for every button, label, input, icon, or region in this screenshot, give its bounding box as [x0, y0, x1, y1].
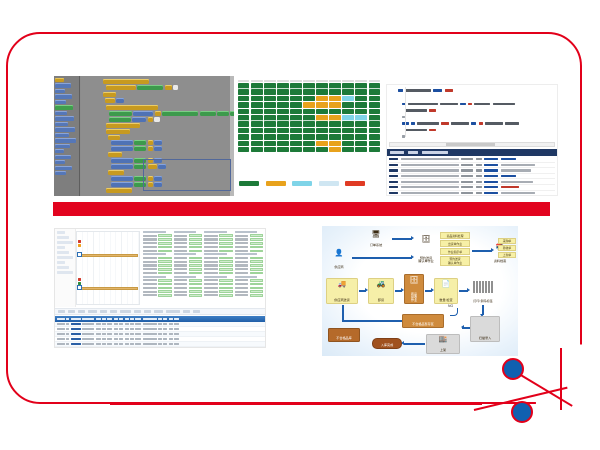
table-column-header[interactable]	[135, 318, 141, 320]
form-field-row[interactable]	[235, 279, 264, 282]
form-field-value[interactable]	[250, 294, 263, 297]
code-block[interactable]	[106, 105, 158, 110]
grid-cell[interactable]	[316, 89, 327, 95]
form-field-value[interactable]	[158, 257, 171, 260]
code-block[interactable]	[116, 98, 124, 103]
code-block[interactable]	[134, 140, 146, 145]
grid-cell[interactable]	[238, 141, 249, 147]
code-editor[interactable]	[387, 85, 557, 139]
sidebar-chip[interactable]	[57, 261, 65, 264]
code-block[interactable]	[108, 152, 122, 157]
palette-block[interactable]	[55, 94, 72, 98]
form-field-value[interactable]	[189, 242, 202, 245]
sidebar-chip[interactable]	[57, 241, 73, 244]
grid-cell[interactable]	[316, 121, 327, 127]
blocks-canvas[interactable]	[81, 76, 234, 196]
flow-node-note-1[interactable]: 商品资料处理	[440, 232, 470, 239]
grid-cell[interactable]	[264, 115, 275, 121]
blocks-editor-screenshot[interactable]	[54, 76, 234, 196]
form-field-row[interactable]	[174, 234, 203, 237]
form-field-value[interactable]	[219, 234, 232, 237]
code-block[interactable]	[165, 85, 172, 90]
grid-cell[interactable]	[329, 96, 340, 102]
palette-block[interactable]	[55, 111, 67, 115]
grid-cell[interactable]	[238, 89, 249, 95]
grid-cell[interactable]	[277, 147, 288, 153]
grid-cell[interactable]	[316, 83, 327, 89]
grid-cell[interactable]	[316, 115, 327, 121]
code-and-log-screenshot[interactable]	[386, 84, 558, 196]
plan-sidebar[interactable]	[55, 229, 76, 307]
form-field-value[interactable]	[250, 268, 263, 271]
sidebar-chip[interactable]	[57, 266, 69, 269]
block-statement-row[interactable]	[105, 98, 124, 103]
form-field-row[interactable]	[235, 242, 264, 245]
table-column-header[interactable]	[143, 318, 157, 320]
code-block[interactable]	[103, 79, 149, 84]
form-field-row[interactable]	[235, 246, 264, 249]
palette-block[interactable]	[55, 166, 72, 170]
toolbar-button[interactable]	[144, 310, 151, 313]
grid-column[interactable]	[264, 80, 275, 152]
grid-cell[interactable]	[251, 96, 262, 102]
code-block[interactable]	[148, 117, 153, 122]
form-field-row[interactable]	[235, 272, 264, 275]
sidebar-chip[interactable]	[57, 236, 69, 239]
palette-block[interactable]	[55, 89, 65, 93]
form-field-row[interactable]	[143, 294, 172, 297]
table-row[interactable]	[55, 347, 265, 348]
toolbar-button[interactable]	[100, 310, 107, 313]
table-column-header[interactable]	[96, 318, 101, 320]
grid-cell[interactable]	[342, 141, 353, 147]
grid-cell[interactable]	[342, 121, 353, 127]
sidebar-chip[interactable]	[57, 256, 73, 259]
data-table[interactable]	[55, 316, 265, 347]
grid-cell[interactable]	[277, 115, 288, 121]
form-field-row[interactable]	[174, 272, 203, 275]
grid-cell[interactable]	[316, 134, 327, 140]
grid-cell[interactable]	[303, 96, 314, 102]
code-block[interactable]	[162, 111, 198, 116]
log-column-header[interactable]	[422, 151, 448, 153]
form-field-row[interactable]	[235, 294, 264, 297]
form-field-value[interactable]	[219, 246, 232, 249]
flow-node-note-5[interactable]: 采购单	[498, 238, 516, 244]
code-block[interactable]	[154, 146, 162, 151]
grid-cell[interactable]	[303, 128, 314, 134]
palette-block[interactable]	[55, 155, 71, 159]
grid-cell[interactable]	[355, 89, 366, 95]
flow-node-delivery-truck[interactable]: 🚚供应商送货	[326, 278, 358, 304]
form-field-value[interactable]	[219, 287, 232, 290]
grid-cell[interactable]	[290, 128, 301, 134]
grid-cell[interactable]	[290, 115, 301, 121]
form-field-row[interactable]	[204, 283, 233, 286]
flow-node-note-3[interactable]: 作业指示单	[440, 248, 470, 255]
form-field-row[interactable]	[174, 246, 203, 249]
sidebar-chip[interactable]	[57, 271, 73, 274]
block-statement-row[interactable]	[111, 146, 162, 151]
grid-cell[interactable]	[264, 141, 275, 147]
form-field-value[interactable]	[219, 260, 232, 263]
form-field-value[interactable]	[250, 238, 263, 241]
block-statement-row[interactable]	[103, 92, 116, 97]
grid-cell[interactable]	[251, 134, 262, 140]
grid-cell[interactable]	[342, 134, 353, 140]
form-field-value[interactable]	[189, 238, 202, 241]
grid-cell[interactable]	[264, 121, 275, 127]
logistics-flow-diagram[interactable]: NG 👤供应商🖥订单系统🗄预约送货 确认单作业商品资料处理出货单作业作业指示单预…	[322, 226, 518, 356]
grid-cell[interactable]	[251, 141, 262, 147]
sidebar-chip[interactable]	[57, 246, 65, 249]
grid-column[interactable]	[290, 80, 301, 152]
grid-cell[interactable]	[369, 102, 380, 108]
form-field-value[interactable]	[250, 287, 263, 290]
form-field-value[interactable]	[250, 246, 263, 249]
code-block[interactable]	[106, 85, 136, 90]
grid-cell[interactable]	[369, 109, 380, 115]
grid-cell[interactable]	[369, 128, 380, 134]
form-field-row[interactable]	[174, 260, 203, 263]
grid-cell[interactable]	[264, 102, 275, 108]
form-field-row[interactable]	[143, 287, 172, 290]
grid-cell[interactable]	[251, 115, 262, 121]
flow-node-supplier[interactable]: 👤供应商	[326, 248, 352, 270]
form-field-row[interactable]	[235, 234, 264, 237]
code-line[interactable]	[391, 134, 553, 139]
code-block[interactable]	[106, 188, 132, 193]
palette-block[interactable]	[55, 78, 64, 82]
log-row[interactable]	[389, 191, 555, 196]
grid-cell[interactable]	[355, 141, 366, 147]
form-field-row[interactable]	[143, 238, 172, 241]
flow-node-scan-station[interactable]: 扫描录入	[470, 316, 500, 342]
form-field-value[interactable]	[189, 290, 202, 293]
palette-block[interactable]	[55, 160, 65, 164]
grid-cell[interactable]	[342, 102, 353, 108]
gantt-bar[interactable]	[80, 287, 138, 290]
grid-cell[interactable]	[355, 109, 366, 115]
code-block[interactable]	[173, 85, 178, 90]
block-statement-row[interactable]	[108, 170, 124, 175]
flow-node-unloading[interactable]: 🚜卸货	[368, 278, 394, 304]
grid-cell[interactable]	[251, 83, 262, 89]
grid-cell[interactable]	[238, 134, 249, 140]
block-statement-row[interactable]	[106, 188, 132, 193]
grid-cell[interactable]	[369, 115, 380, 121]
status-grid[interactable]	[238, 80, 380, 152]
form-field-row[interactable]	[143, 290, 172, 293]
grid-cell[interactable]	[238, 109, 249, 115]
table-column-header[interactable]	[174, 318, 179, 320]
grid-cell[interactable]	[264, 109, 275, 115]
grid-cell[interactable]	[329, 134, 340, 140]
block-statement-row[interactable]	[106, 105, 158, 110]
form-field-row[interactable]	[235, 283, 264, 286]
form-field-row[interactable]	[174, 283, 203, 286]
form-field-row[interactable]	[204, 294, 233, 297]
form-field-value[interactable]	[250, 290, 263, 293]
grid-cell[interactable]	[277, 102, 288, 108]
form-field-value[interactable]	[189, 268, 202, 271]
form-field-value[interactable]	[219, 279, 232, 282]
code-block[interactable]	[109, 111, 132, 116]
palette-block[interactable]	[55, 116, 74, 120]
form-field-value[interactable]	[158, 264, 171, 267]
form-field-row[interactable]	[204, 260, 233, 263]
form-field-value[interactable]	[189, 264, 202, 267]
form-field-row[interactable]	[174, 290, 203, 293]
form-field-row[interactable]	[235, 257, 264, 260]
form-field-row[interactable]	[143, 246, 172, 249]
grid-cell[interactable]	[303, 102, 314, 108]
form-field-value[interactable]	[219, 290, 232, 293]
grid-cell[interactable]	[238, 128, 249, 134]
sidebar-chip[interactable]	[57, 231, 65, 234]
form-field-value[interactable]	[158, 260, 171, 263]
table-column-header[interactable]	[107, 318, 112, 320]
grid-cell[interactable]	[316, 147, 327, 153]
block-statement-row[interactable]	[106, 85, 178, 90]
form-field-row[interactable]	[235, 250, 264, 253]
block-statement-row[interactable]	[106, 123, 140, 128]
form-field-value[interactable]	[250, 264, 263, 267]
gantt-milestone-marker[interactable]	[77, 252, 82, 257]
grid-cell[interactable]	[264, 83, 275, 89]
table-column-header[interactable]	[66, 318, 69, 320]
grid-cell[interactable]	[355, 96, 366, 102]
form-field-value[interactable]	[219, 238, 232, 241]
log-column-header[interactable]	[408, 151, 418, 153]
form-field-value[interactable]	[158, 250, 171, 253]
form-field-row[interactable]	[204, 234, 233, 237]
grid-cell[interactable]	[290, 83, 301, 89]
grid-cell[interactable]	[277, 141, 288, 147]
flow-node-reject-area[interactable]: 不合格品暂存区	[402, 314, 444, 328]
form-field-value[interactable]	[158, 283, 171, 286]
form-field-row[interactable]	[235, 290, 264, 293]
form-field-row[interactable]	[204, 268, 233, 271]
form-field-value[interactable]	[219, 242, 232, 245]
grid-column[interactable]	[369, 80, 380, 152]
block-statement-row[interactable]	[108, 152, 122, 157]
form-field-row[interactable]	[143, 283, 172, 286]
form-field-value[interactable]	[250, 242, 263, 245]
code-block[interactable]	[105, 98, 115, 103]
grid-cell[interactable]	[329, 128, 340, 134]
grid-cell[interactable]	[316, 141, 327, 147]
grid-cell[interactable]	[290, 134, 301, 140]
grid-cell[interactable]	[316, 96, 327, 102]
form-field-value[interactable]	[158, 279, 171, 282]
gantt-milestone-marker[interactable]	[77, 285, 82, 290]
form-field-row[interactable]	[235, 238, 264, 241]
grid-cell[interactable]	[264, 96, 275, 102]
form-field-row[interactable]	[204, 264, 233, 267]
form-field-row[interactable]	[204, 257, 233, 260]
code-line[interactable]	[391, 95, 553, 100]
grid-cell[interactable]	[369, 141, 380, 147]
grid-cell[interactable]	[329, 147, 340, 153]
block-statement-row[interactable]	[103, 79, 149, 84]
code-block[interactable]	[148, 146, 153, 151]
code-block[interactable]	[111, 176, 133, 181]
form-field-value[interactable]	[158, 272, 171, 275]
grid-cell[interactable]	[251, 121, 262, 127]
grid-cell[interactable]	[342, 128, 353, 134]
grid-cell[interactable]	[355, 102, 366, 108]
table-column-header[interactable]	[71, 318, 81, 320]
flow-node-note-7[interactable]: 上架单	[498, 252, 516, 258]
grid-cell[interactable]	[251, 89, 262, 95]
block-statement-row[interactable]	[109, 117, 160, 122]
grid-cell[interactable]	[355, 121, 366, 127]
form-field-value[interactable]	[219, 250, 232, 253]
form-field-value[interactable]	[250, 279, 263, 282]
form-field-row[interactable]	[235, 268, 264, 271]
grid-cell[interactable]	[290, 89, 301, 95]
form-field-value[interactable]	[158, 287, 171, 290]
form-field-row[interactable]	[143, 234, 172, 237]
grid-column[interactable]	[316, 80, 327, 152]
grid-cell[interactable]	[264, 147, 275, 153]
grid-cell[interactable]	[329, 89, 340, 95]
form-field-row[interactable]	[204, 246, 233, 249]
grid-cell[interactable]	[369, 96, 380, 102]
form-field-row[interactable]	[174, 287, 203, 290]
table-column-header[interactable]	[169, 318, 173, 320]
plan-spreadsheet-screenshot[interactable]	[54, 228, 266, 348]
code-block[interactable]	[111, 140, 133, 145]
form-field-row[interactable]	[174, 294, 203, 297]
grid-cell[interactable]	[369, 89, 380, 95]
toolbar-button[interactable]	[58, 310, 65, 313]
log-column-header[interactable]	[390, 151, 404, 153]
form-field-row[interactable]	[204, 287, 233, 290]
gantt-bar[interactable]	[80, 254, 138, 257]
form-field-groups[interactable]	[143, 231, 263, 305]
code-block[interactable]	[108, 170, 124, 175]
grid-cell[interactable]	[277, 128, 288, 134]
grid-cell[interactable]	[290, 147, 301, 153]
grid-column[interactable]	[251, 80, 262, 152]
grid-cell[interactable]	[369, 134, 380, 140]
table-column-header[interactable]	[130, 318, 134, 320]
form-field-value[interactable]	[158, 234, 171, 237]
toolbar-button[interactable]	[134, 310, 141, 313]
code-line[interactable]	[391, 88, 553, 93]
form-field-value[interactable]	[189, 257, 202, 260]
flow-node-quality-check[interactable]: 📄数量 检查	[434, 278, 458, 304]
code-line[interactable]	[391, 114, 553, 119]
grid-cell[interactable]	[355, 128, 366, 134]
form-field-row[interactable]	[174, 257, 203, 260]
palette-block[interactable]	[55, 144, 70, 148]
form-field-value[interactable]	[158, 290, 171, 293]
grid-cell[interactable]	[277, 89, 288, 95]
toolbar-button[interactable]	[166, 310, 180, 313]
grid-cell[interactable]	[238, 115, 249, 121]
form-field-row[interactable]	[174, 250, 203, 253]
table-column-header[interactable]	[102, 318, 106, 320]
form-field-row[interactable]	[174, 264, 203, 267]
block-statement-row[interactable]	[111, 140, 162, 145]
grid-cell[interactable]	[342, 147, 353, 153]
form-field-row[interactable]	[235, 287, 264, 290]
form-field-value[interactable]	[158, 268, 171, 271]
code-horizontal-scrollbar[interactable]	[389, 142, 555, 147]
code-line[interactable]	[391, 101, 553, 106]
grid-cell[interactable]	[264, 128, 275, 134]
grid-cell[interactable]	[355, 115, 366, 121]
grid-cell[interactable]	[342, 89, 353, 95]
toolbar-button[interactable]	[120, 310, 131, 313]
grid-cell[interactable]	[303, 115, 314, 121]
block-statement-row[interactable]	[109, 111, 234, 116]
grid-cell[interactable]	[290, 102, 301, 108]
gantt-grid[interactable]	[76, 231, 140, 305]
log-panel-rows[interactable]	[387, 157, 557, 195]
block-statement-row[interactable]	[108, 135, 120, 140]
grid-column[interactable]	[277, 80, 288, 152]
form-field-row[interactable]	[204, 272, 233, 275]
form-field-row[interactable]	[174, 279, 203, 282]
grid-cell[interactable]	[264, 134, 275, 140]
form-field-row[interactable]	[143, 257, 172, 260]
form-field-row[interactable]	[143, 279, 172, 282]
grid-cell[interactable]	[355, 134, 366, 140]
palette-block[interactable]	[55, 100, 66, 104]
grid-cell[interactable]	[290, 109, 301, 115]
form-field-row[interactable]	[174, 238, 203, 241]
code-block[interactable]	[230, 111, 234, 116]
form-field-row[interactable]	[143, 242, 172, 245]
grid-cell[interactable]	[342, 109, 353, 115]
form-field-value[interactable]	[189, 279, 202, 282]
flow-node-reject-store[interactable]: 不合格品库	[328, 328, 360, 342]
code-block[interactable]	[154, 117, 160, 122]
form-field-value[interactable]	[158, 294, 171, 297]
form-field-value[interactable]	[250, 260, 263, 263]
form-field-row[interactable]	[235, 264, 264, 267]
grid-cell[interactable]	[290, 141, 301, 147]
grid-cell[interactable]	[277, 109, 288, 115]
form-field-value[interactable]	[250, 257, 263, 260]
code-block[interactable]	[137, 85, 163, 90]
form-field-row[interactable]	[204, 279, 233, 282]
table-column-header[interactable]	[119, 318, 123, 320]
table-column-header[interactable]	[57, 318, 65, 320]
grid-cell[interactable]	[290, 96, 301, 102]
form-field-row[interactable]	[143, 272, 172, 275]
grid-cell[interactable]	[303, 89, 314, 95]
grid-cell[interactable]	[355, 83, 366, 89]
grid-cell[interactable]	[251, 109, 262, 115]
form-field-value[interactable]	[250, 234, 263, 237]
form-field-value[interactable]	[219, 283, 232, 286]
form-field-row[interactable]	[143, 260, 172, 263]
form-field-value[interactable]	[158, 246, 171, 249]
code-line[interactable]	[391, 127, 553, 132]
code-block[interactable]	[200, 111, 216, 116]
form-field-row[interactable]	[204, 250, 233, 253]
grid-cell[interactable]	[303, 109, 314, 115]
code-line[interactable]	[391, 121, 553, 126]
form-field-value[interactable]	[219, 264, 232, 267]
sidebar-chip[interactable]	[57, 251, 69, 254]
grid-cell[interactable]	[277, 96, 288, 102]
